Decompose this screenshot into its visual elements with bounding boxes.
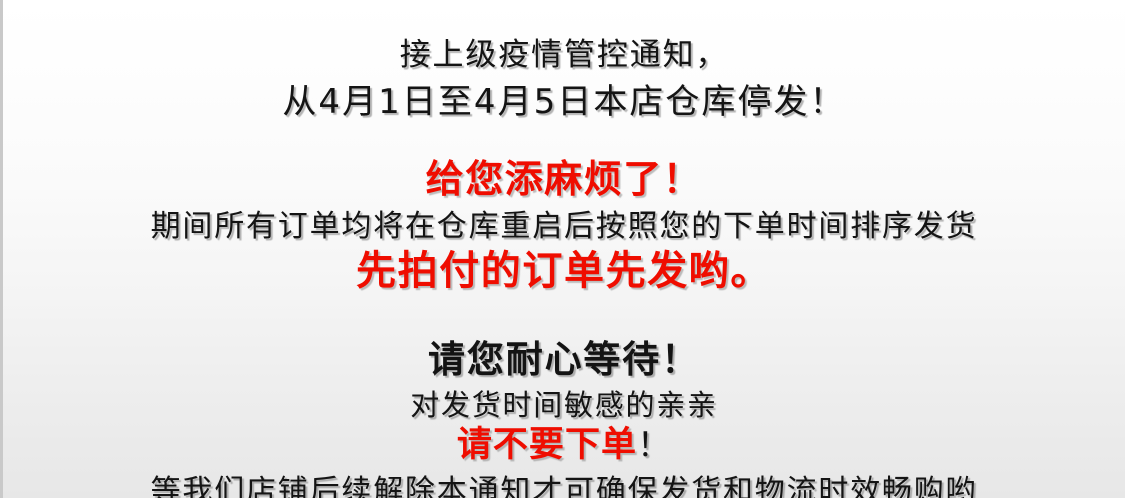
notice-line-first-paid-first-shipped: 先拍付的订单先发哟。 xyxy=(3,242,1125,291)
store-shipping-notice-banner: 接上级疫情管控通知， 从4月1日至4月5日本店仓库停发！ 给您添麻烦了！ 期间所… xyxy=(0,0,1125,498)
do-not-order-emphasis: 请不要下单 xyxy=(457,425,637,465)
do-not-order-exclamation: ！ xyxy=(637,425,671,464)
notice-line-authority-directive: 接上级疫情管控通知， xyxy=(3,24,1125,71)
notice-line-order-queue-policy: 期间所有订单均将在仓库重启后按照您的下单时间排序发货 xyxy=(3,198,1125,242)
notice-line-shipping-guarantee-disclaimer: 等我们店铺后续解除本通知才可确保发货和物流时效畅购哟 xyxy=(3,463,1125,498)
notice-line-please-be-patient: 请您耐心等待！ xyxy=(3,291,1125,378)
notice-line-warehouse-closure-dates: 从4月1日至4月5日本店仓库停发！ xyxy=(3,71,1125,119)
notice-text-block: 接上级疫情管控通知， 从4月1日至4月5日本店仓库停发！ 给您添麻烦了！ 期间所… xyxy=(3,0,1125,498)
notice-line-time-sensitive-customers: 对发货时间敏感的亲亲 xyxy=(3,378,1125,420)
notice-line-do-not-order: 请不要下单！ xyxy=(3,420,1125,463)
notice-line-apology: 给您添麻烦了！ xyxy=(3,119,1125,198)
